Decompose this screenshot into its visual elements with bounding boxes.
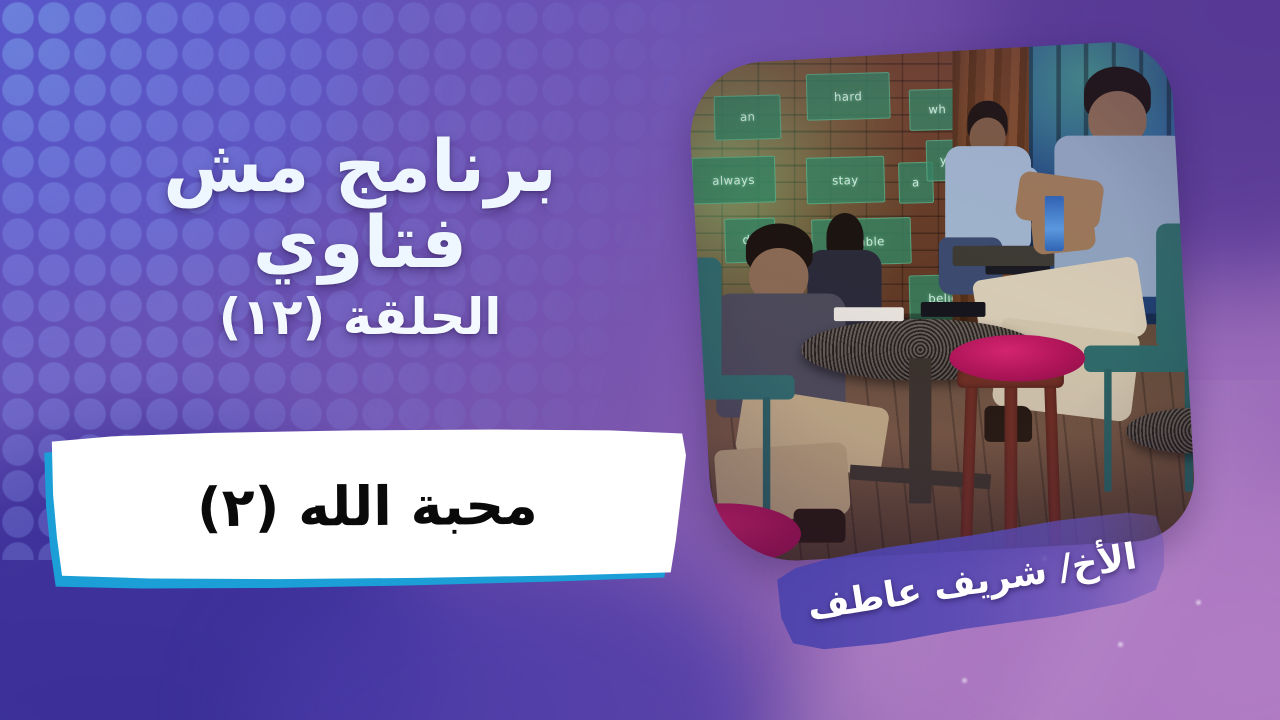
program-title: برنامج مش فتاوي xyxy=(60,128,660,281)
photo-inner: an hard wh always stay a do humble y bel… xyxy=(686,39,1197,565)
topic-card: محبة الله (٢) xyxy=(48,428,686,580)
studio-scene: an hard wh always stay a do humble y bel… xyxy=(686,39,1197,565)
episode-title-card: an hard wh always stay a do humble y bel… xyxy=(0,0,1280,720)
episode-photo: an hard wh always stay a do humble y bel… xyxy=(686,39,1197,565)
topic-card-body: محبة الله (٢) xyxy=(48,428,686,580)
episode-number: الحلقة (١٢) xyxy=(60,288,660,346)
topic-title: محبة الله (٢) xyxy=(196,473,537,538)
photo-color-grade xyxy=(686,39,1197,565)
